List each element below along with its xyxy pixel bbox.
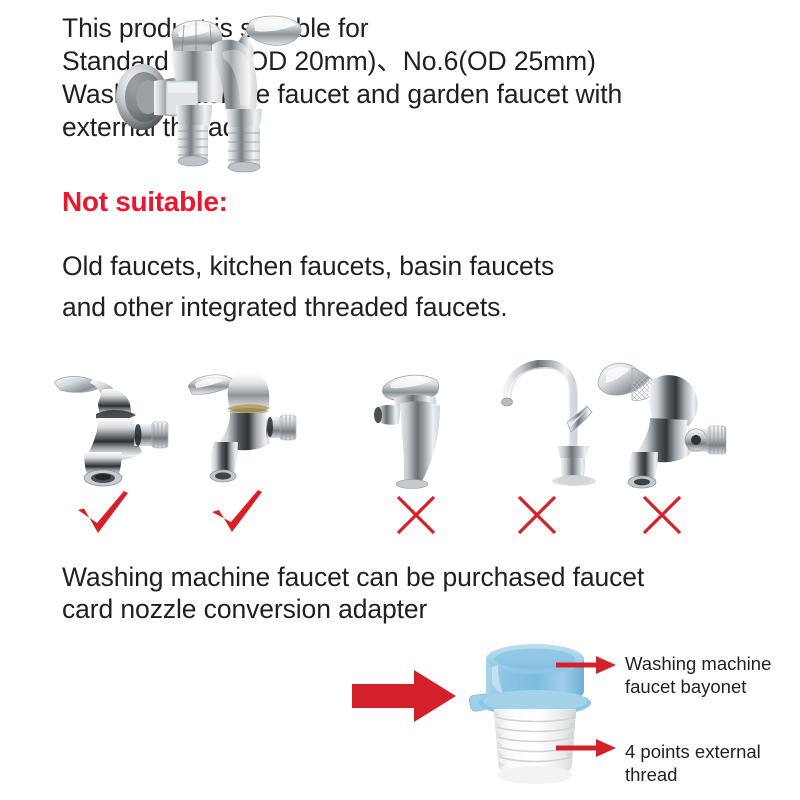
right-arrow-icon	[556, 655, 618, 675]
callout-bayonet-label: Washing machine faucet bayonet	[625, 652, 771, 698]
faucet-comparison-row	[0, 360, 800, 540]
verdict-mark-check	[74, 490, 134, 540]
dual-outlet-washing-machine-faucet	[100, 5, 350, 185]
not-suitable-body: Old faucets, kitchen faucets, basin fauc…	[62, 246, 554, 328]
washing-machine-bibcock-lever-icon	[48, 360, 178, 490]
verdict-mark-cross	[507, 490, 567, 540]
garden-bibcock-knob-icon	[182, 360, 308, 490]
check-icon	[74, 490, 134, 540]
cross-icon	[632, 490, 692, 540]
kitchen-gooseneck-faucet-icon	[495, 360, 600, 490]
annotation-arrow-thread	[556, 738, 618, 763]
integrated-threaded-bibcock-icon	[592, 360, 737, 490]
faucet-item-kitchen-gooseneck-faucet	[495, 360, 600, 490]
faucet-item-garden-bibcock-knob	[182, 360, 308, 490]
right-arrow-icon	[352, 668, 460, 724]
faucet-item-integrated-threaded-bibcock	[592, 360, 737, 490]
infographic-page: This product is suitable for Standard No…	[0, 0, 800, 800]
check-icon	[208, 490, 268, 540]
verdict-mark-cross	[632, 490, 692, 540]
annotation-arrow-bayonet	[556, 655, 618, 680]
verdict-mark-check	[208, 490, 268, 540]
dual-outlet-washing-machine-faucet-icon	[100, 5, 350, 180]
cross-icon	[386, 490, 446, 540]
callout-thread-label: 4 points external thread	[625, 740, 761, 786]
basin-mixer-faucet-icon	[370, 360, 485, 490]
verdict-mark-cross	[386, 490, 446, 540]
cross-icon	[507, 490, 567, 540]
conversion-arrow	[352, 668, 460, 729]
right-arrow-icon	[556, 738, 618, 758]
not-suitable-heading: Not suitable:	[62, 186, 228, 218]
faucet-item-washing-machine-bibcock-lever	[48, 360, 178, 490]
faucet-item-basin-mixer-faucet	[370, 360, 485, 490]
